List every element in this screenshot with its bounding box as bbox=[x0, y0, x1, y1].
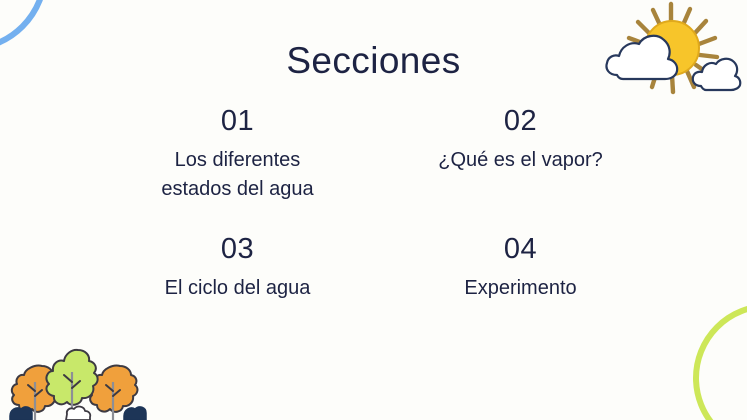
section-number: 03 bbox=[102, 234, 373, 264]
section-number: 01 bbox=[102, 106, 373, 136]
section-label: El ciclo del agua bbox=[102, 274, 373, 302]
section-label: Los diferentes estados del agua bbox=[102, 146, 373, 203]
lime-circle-arc-decoration bbox=[693, 303, 747, 420]
sections-grid: 01 Los diferentes estados del agua 02 ¿Q… bbox=[96, 106, 662, 303]
bush-left-icon bbox=[10, 407, 32, 420]
autumn-trees-illustration bbox=[8, 348, 148, 420]
section-item-03[interactable]: 03 El ciclo del agua bbox=[96, 234, 379, 303]
presentation-slide: Secciones 01 Los diferentes estados del … bbox=[0, 0, 747, 420]
page-title: Secciones bbox=[0, 40, 747, 82]
section-item-04[interactable]: 04 Experimento bbox=[379, 234, 662, 303]
section-label: Experimento bbox=[385, 274, 656, 302]
section-number: 02 bbox=[385, 106, 656, 136]
cloud-ground-icon bbox=[66, 407, 90, 420]
bush-right-icon bbox=[124, 407, 146, 420]
section-item-01[interactable]: 01 Los diferentes estados del agua bbox=[96, 106, 379, 234]
section-label: ¿Qué es el vapor? bbox=[385, 146, 656, 174]
section-item-02[interactable]: 02 ¿Qué es el vapor? bbox=[379, 106, 662, 234]
section-number: 04 bbox=[385, 234, 656, 264]
